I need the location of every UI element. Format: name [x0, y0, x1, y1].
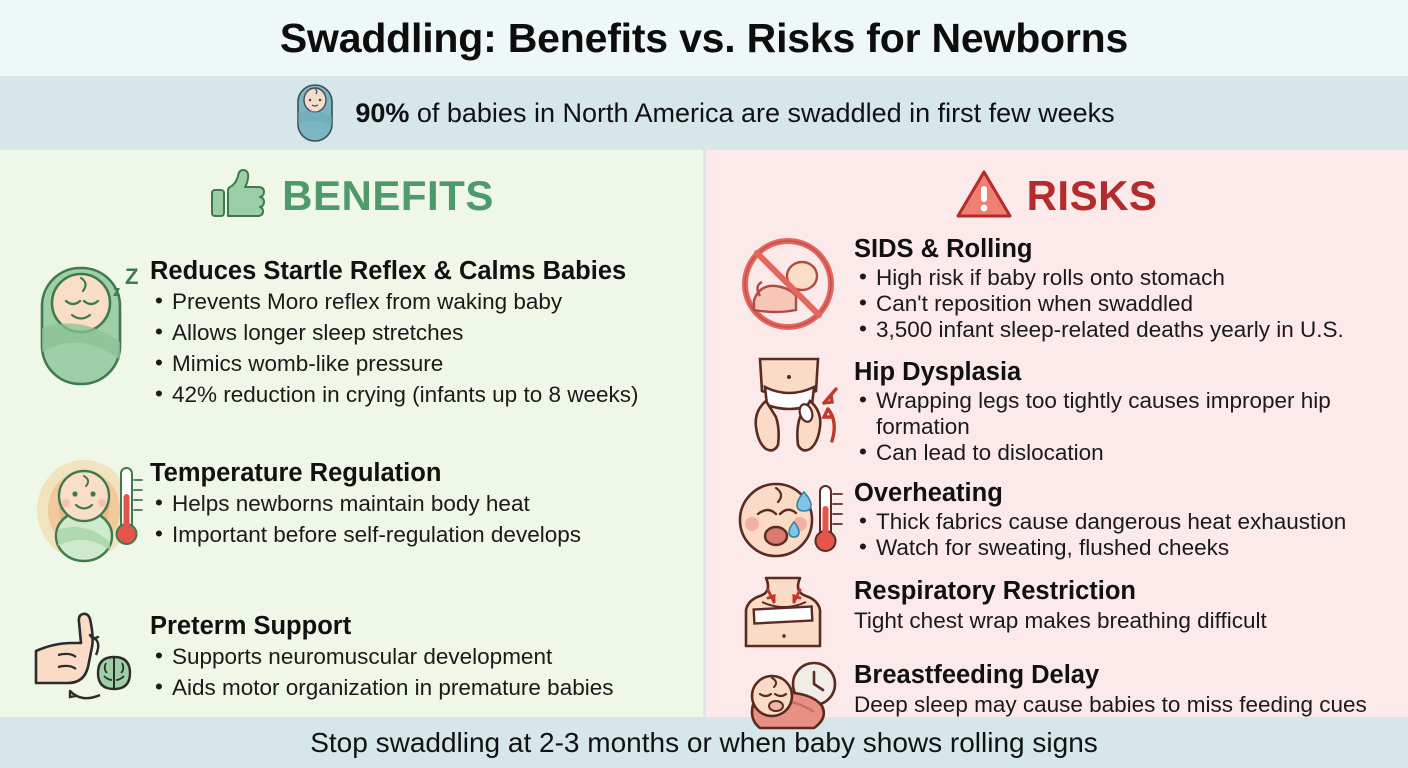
risk-body: SIDS & Rolling High risk if baby rolls o…: [854, 234, 1398, 343]
benefit-bullet: Mimics womb-like pressure: [150, 348, 690, 379]
benefit-body: Preterm Support Supports neuromuscular d…: [150, 611, 690, 703]
benefit-title: Reduces Startle Reflex & Calms Babies: [150, 256, 690, 286]
column-divider: [703, 150, 706, 717]
benefit-bullet: Important before self-regulation develop…: [150, 519, 690, 550]
risk-body: Respiratory Restriction Tight chest wrap…: [854, 576, 1398, 635]
risk-title: Hip Dysplasia: [854, 357, 1398, 388]
svg-text:Z: Z: [125, 264, 138, 289]
baby-clock-icon: [732, 660, 854, 732]
risk-title: Breastfeeding Delay: [854, 660, 1398, 691]
risk-item: Respiratory Restriction Tight chest wrap…: [732, 576, 1398, 648]
stat-banner: 90% of babies in North America are swadd…: [0, 76, 1408, 150]
risk-bullet: Wrapping legs too tightly causes imprope…: [854, 388, 1398, 440]
stat-text: 90% of babies in North America are swadd…: [355, 98, 1114, 129]
risk-bullets: Wrapping legs too tightly causes imprope…: [854, 388, 1398, 466]
benefits-header: BENEFITS: [0, 150, 704, 228]
risk-item: SIDS & Rolling High risk if baby rolls o…: [732, 234, 1398, 343]
risk-bullet: Can lead to dislocation: [854, 440, 1398, 466]
sweating-baby-thermometer-icon: [732, 478, 854, 562]
risks-heading: RISKS: [1027, 172, 1158, 220]
title-band: Swaddling: Benefits vs. Risks for Newbor…: [0, 0, 1408, 76]
infographic-page: Swaddling: Benefits vs. Risks for Newbor…: [0, 0, 1408, 768]
benefit-bullets: Helps newborns maintain body heat Import…: [150, 488, 690, 550]
benefit-item: Preterm Support Supports neuromuscular d…: [28, 611, 690, 706]
benefit-item: Temperature Regulation Helps newborns ma…: [28, 458, 690, 563]
benefit-title: Preterm Support: [150, 611, 690, 641]
svg-text:z: z: [113, 283, 121, 300]
benefit-title: Temperature Regulation: [150, 458, 690, 488]
risk-bullet: 3,500 infant sleep-related deaths yearly…: [854, 317, 1398, 343]
risk-item: Hip Dysplasia Wrapping legs too tightly …: [732, 357, 1398, 466]
content-columns: BENEFITS Z z: [0, 150, 1408, 717]
benefit-item: Z z Reduces Startle Reflex & Calms Babie…: [28, 256, 690, 410]
risk-body: Breastfeeding Delay Deep sleep may cause…: [854, 660, 1398, 719]
risk-bullets: Thick fabrics cause dangerous heat exhau…: [854, 509, 1398, 561]
risk-bullets: High risk if baby rolls onto stomach Can…: [854, 265, 1398, 343]
stat-highlight: 90%: [355, 98, 409, 128]
no-tummy-sleeping-icon: [732, 234, 854, 334]
benefit-bullets: Prevents Moro reflex from waking baby Al…: [150, 286, 690, 410]
benefits-heading: BENEFITS: [282, 172, 494, 220]
risk-title: Respiratory Restriction: [854, 576, 1398, 607]
benefit-bullet: Helps newborns maintain body heat: [150, 488, 690, 519]
risks-column: RISKS SIDS & Rolling: [704, 150, 1408, 717]
risk-body: Overheating Thick fabrics cause dangerou…: [854, 478, 1398, 561]
benefit-bullets: Supports neuromuscular development Aids …: [150, 641, 690, 703]
risk-bullet: Watch for sweating, flushed cheeks: [854, 535, 1398, 561]
risk-description: Tight chest wrap makes breathing difficu…: [854, 607, 1398, 635]
stat-sentence: of babies in North America are swaddled …: [409, 98, 1114, 128]
risk-bullet: High risk if baby rolls onto stomach: [854, 265, 1398, 291]
thumbs-up-icon: [210, 168, 268, 225]
risk-bullet: Can't reposition when swaddled: [854, 291, 1398, 317]
risk-title: SIDS & Rolling: [854, 234, 1398, 265]
benefit-bullet: Aids motor organization in premature bab…: [150, 672, 690, 703]
benefit-bullet: Allows longer sleep stretches: [150, 317, 690, 348]
risk-item: Overheating Thick fabrics cause dangerou…: [732, 478, 1398, 562]
benefit-body: Temperature Regulation Helps newborns ma…: [150, 458, 690, 550]
benefit-bullet: 42% reduction in crying (infants up to 8…: [150, 379, 690, 410]
benefits-column: BENEFITS Z z: [0, 150, 704, 717]
risk-description: Deep sleep may cause babies to miss feed…: [854, 691, 1398, 719]
baby-hips-icon: [732, 357, 854, 453]
risk-body: Hip Dysplasia Wrapping legs too tightly …: [854, 357, 1398, 466]
risks-header: RISKS: [704, 150, 1408, 228]
benefit-bullet: Prevents Moro reflex from waking baby: [150, 286, 690, 317]
chest-wrap-icon: [732, 576, 854, 648]
page-title: Swaddling: Benefits vs. Risks for Newbor…: [280, 15, 1128, 62]
risk-bullet: Thick fabrics cause dangerous heat exhau…: [854, 509, 1398, 535]
swaddled-baby-icon: [293, 83, 337, 143]
benefit-body: Reduces Startle Reflex & Calms Babies Pr…: [150, 256, 690, 410]
risk-title: Overheating: [854, 478, 1398, 509]
risk-item: Breastfeeding Delay Deep sleep may cause…: [732, 660, 1398, 732]
hand-brain-icon: [28, 611, 150, 706]
warning-triangle-icon: [955, 168, 1013, 225]
benefit-bullet: Supports neuromuscular development: [150, 641, 690, 672]
baby-thermometer-warm-icon: [28, 458, 150, 563]
sleeping-swaddled-baby-icon: Z z: [28, 256, 150, 386]
